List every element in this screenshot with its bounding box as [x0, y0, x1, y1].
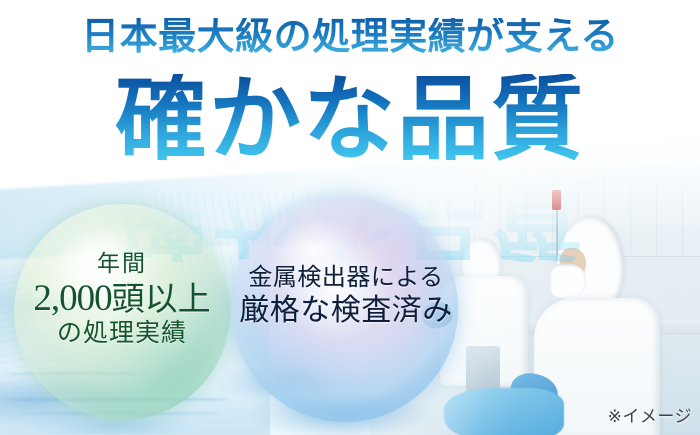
headline: 日本最大級の処理実績が支える: [0, 18, 700, 56]
promotional-banner: 確かな品質 日本最大級の処理実績が支える 確かな品質 年間 2,000頭以上 の…: [0, 0, 700, 435]
bubble-green-line1: 年間: [8, 252, 236, 277]
bubble-green-line3: の処理実績: [8, 320, 236, 347]
bubble-blue-line2: 厳格な検査済み: [228, 294, 464, 327]
bubble-green-line2: 2,000頭以上: [8, 279, 236, 319]
page-title-text: 確かな品質: [115, 74, 585, 166]
bubble-blue-caption: 金属検出器による 厳格な検査済み: [228, 265, 464, 327]
bubble-green-unit: 頭以上: [112, 282, 211, 318]
bubble-blue-line1: 金属検出器による: [228, 265, 464, 291]
image-disclaimer: ※イメージ: [608, 402, 692, 427]
bubble-green-caption: 年間 2,000頭以上 の処理実績: [8, 252, 236, 347]
page-title: 確かな品質: [0, 74, 700, 166]
headline-text: 日本最大級の処理実績が支える: [81, 16, 619, 58]
bubble-green-number: 2,000: [33, 278, 111, 319]
